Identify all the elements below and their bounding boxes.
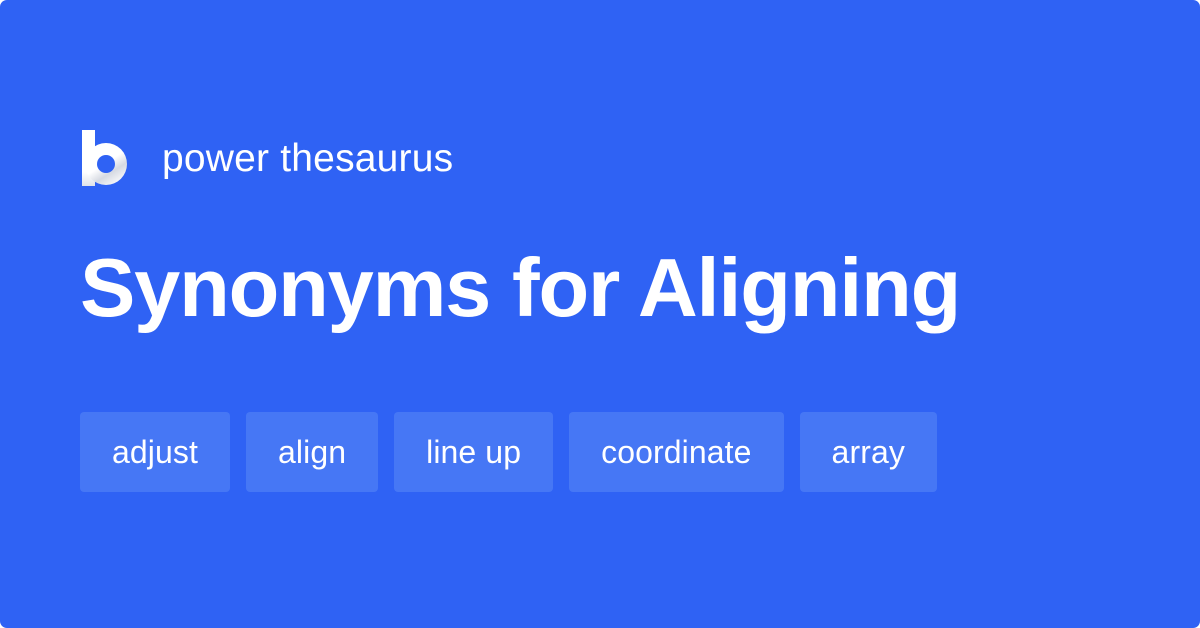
synonym-chip[interactable]: adjust [80, 412, 230, 492]
synonym-chip[interactable]: align [246, 412, 378, 492]
brand-name: power thesaurus [162, 139, 453, 178]
power-thesaurus-b-logo-icon [80, 130, 128, 186]
synonym-chip[interactable]: array [800, 412, 937, 492]
page-title: Synonyms for Aligning [80, 246, 960, 329]
share-card: power thesaurus Synonyms for Aligning ad… [0, 0, 1200, 628]
synonym-chip[interactable]: line up [394, 412, 553, 492]
synonym-chip[interactable]: coordinate [569, 412, 783, 492]
brand-lockup[interactable]: power thesaurus [80, 126, 453, 190]
synonym-chip-list: adjust align line up coordinate array [80, 412, 937, 492]
